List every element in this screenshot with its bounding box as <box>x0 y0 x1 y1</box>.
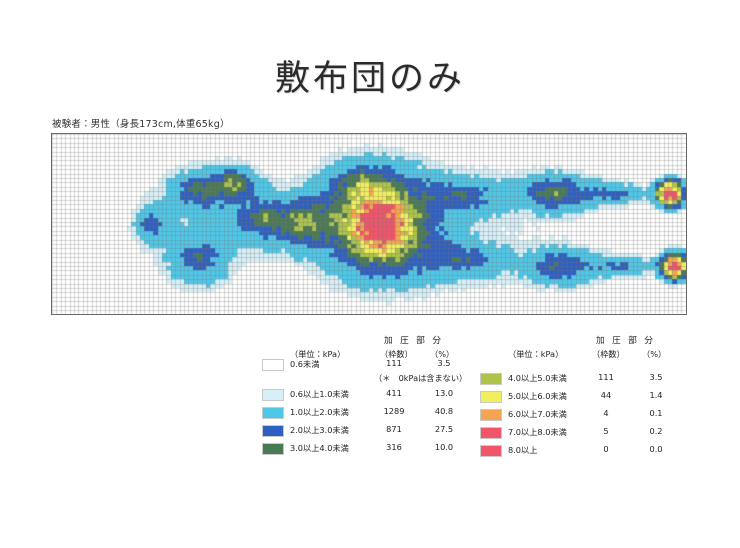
legend-percent: 10.0 <box>424 442 464 452</box>
legend-swatch <box>262 443 284 455</box>
legend-percent: 3.5 <box>424 358 464 368</box>
legend-frames: 1289 <box>374 406 414 416</box>
legend-heading-unit-right: （単位：kPa） <box>508 348 563 360</box>
legend-frames: 0 <box>586 444 626 454</box>
legend-label: 4.0以上5.0未満 <box>508 372 567 384</box>
legend-heading-percent-right: （%） <box>642 348 666 360</box>
legend-frames: 871 <box>374 424 414 434</box>
legend-swatch <box>480 409 502 421</box>
legend-swatch <box>480 445 502 457</box>
legend-percent: 0.0 <box>636 444 676 454</box>
slide-page: 敷布団のみ 被験者：男性（身長173cm,体重65kg） 加 圧 部 分 （単位… <box>0 0 740 548</box>
legend-label: 2.0以上3.0未満 <box>290 424 349 436</box>
legend-label: 3.0以上4.0未満 <box>290 442 349 454</box>
legend-heading-pressure-left: 加 圧 部 分 <box>384 334 443 346</box>
legend-swatch <box>262 359 284 371</box>
legend-percent: 27.5 <box>424 424 464 434</box>
legend-percent: 13.0 <box>424 388 464 398</box>
legend-label: 0.6以上1.0未満 <box>290 388 349 400</box>
legend-label: 7.0以上8.0未満 <box>508 426 567 438</box>
pressure-map-canvas <box>52 134 686 314</box>
legend-percent: 40.8 <box>424 406 464 416</box>
legend-swatch <box>480 391 502 403</box>
legend-swatch <box>262 407 284 419</box>
legend-swatch <box>262 389 284 401</box>
legend-label: 8.0以上 <box>508 444 537 456</box>
legend-frames: 4 <box>586 408 626 418</box>
legend-swatch <box>480 373 502 385</box>
legend-note: （＊ 0kPaは含まない） <box>374 372 467 384</box>
legend-frames: 44 <box>586 390 626 400</box>
legend-frames: 5 <box>586 426 626 436</box>
legend-percent: 3.5 <box>636 372 676 382</box>
legend-label: 0.6未満 <box>290 358 319 370</box>
legend-percent: 0.1 <box>636 408 676 418</box>
legend-percent: 1.4 <box>636 390 676 400</box>
legend-label: 6.0以上7.0未満 <box>508 408 567 420</box>
legend-label: 1.0以上2.0未満 <box>290 406 349 418</box>
legend-label: 5.0以上6.0未満 <box>508 390 567 402</box>
page-title: 敷布団のみ <box>0 62 740 97</box>
legend-frames: 111 <box>586 372 626 382</box>
legend-percent: 0.2 <box>636 426 676 436</box>
legend-frames: 111 <box>374 358 414 368</box>
legend-swatch <box>262 425 284 437</box>
legend-swatch <box>480 427 502 439</box>
legend-frames: 316 <box>374 442 414 452</box>
pressure-map-frame <box>51 133 687 315</box>
legend-frames: 411 <box>374 388 414 398</box>
subject-caption: 被験者：男性（身長173cm,体重65kg） <box>52 116 230 130</box>
legend-heading-pressure-right: 加 圧 部 分 <box>596 334 655 346</box>
legend-heading-frames-right: （枠数） <box>592 348 625 360</box>
legend: 加 圧 部 分 （単位：kPa） （枠数） （%） 0.6未満 111 3.5 … <box>256 334 708 474</box>
